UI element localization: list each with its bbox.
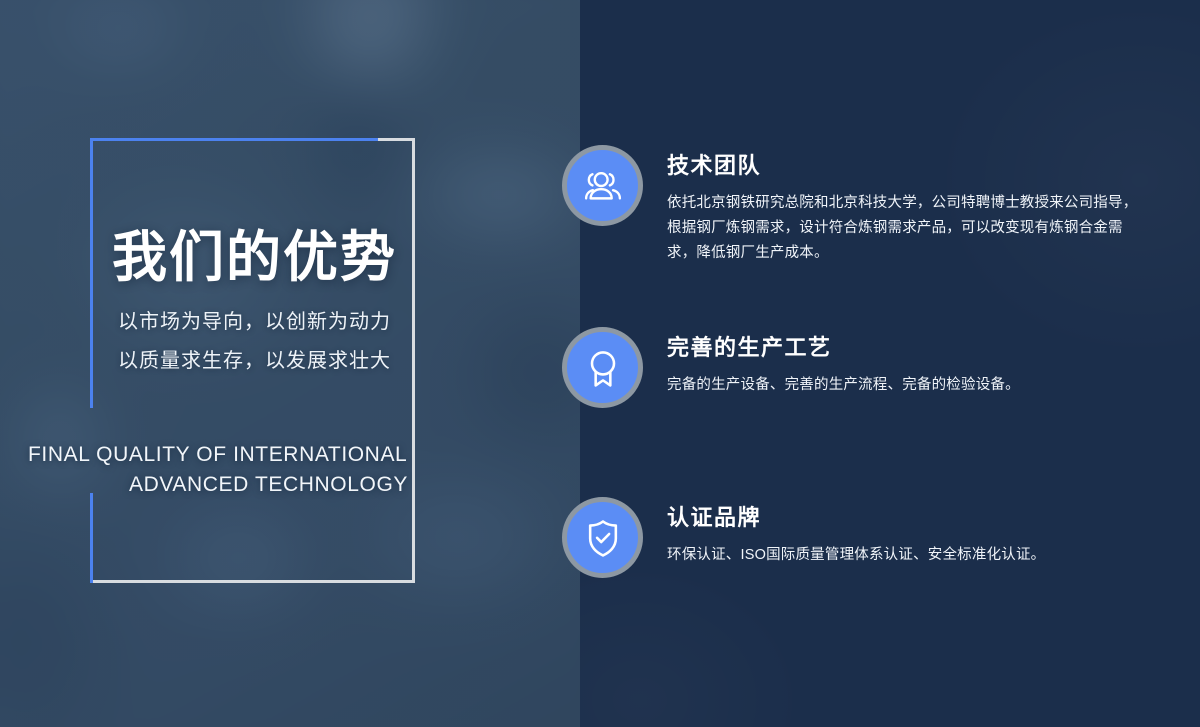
page-title: 我们的优势 (112, 227, 397, 288)
left-content-group: 我们的优势 以市场为导向，以创新为动力 以质量求生存，以发展求壮大 FINAL … (0, 0, 580, 727)
shield-check-icon (562, 497, 643, 578)
feature-text-block: 完善的生产工艺 完备的生产设备、完善的生产流程、完备的检验设备。 (667, 327, 1147, 408)
feature-item-production-process: 完善的生产工艺 完备的生产设备、完善的生产流程、完备的检验设备。 (580, 327, 1200, 408)
tagline-group: 以市场为导向，以创新为动力 以质量求生存，以发展求壮大 (118, 303, 391, 381)
feature-text-block: 技术团队 依托北京钢铁研究总院和北京科技大学，公司特聘博士教授来公司指导，根据钢… (667, 145, 1147, 266)
feature-title: 完善的生产工艺 (667, 330, 1147, 362)
tagline-line-2: 以质量求生存，以发展求壮大 (118, 342, 391, 381)
feature-description: 环保认证、ISO国际质量管理体系认证、安全标准化认证。 (667, 543, 1147, 568)
tagline-line-1: 以市场为导向，以创新为动力 (118, 303, 391, 342)
feature-item-certified-brand: 认证品牌 环保认证、ISO国际质量管理体系认证、安全标准化认证。 (580, 497, 1200, 578)
slide-canvas: 我们的优势 以市场为导向，以创新为动力 以质量求生存，以发展求壮大 FINAL … (0, 0, 1200, 727)
english-subtitle-group: FINAL QUALITY OF INTERNATIONAL ADVANCED … (28, 440, 408, 500)
feature-item-technical-team: 技术团队 依托北京钢铁研究总院和北京科技大学，公司特聘博士教授来公司指导，根据钢… (580, 145, 1200, 266)
feature-list: 技术团队 依托北京钢铁研究总院和北京科技大学，公司特聘博士教授来公司指导，根据钢… (580, 0, 1200, 727)
feature-description: 完备的生产设备、完善的生产流程、完备的检验设备。 (667, 373, 1147, 398)
english-subtitle-line-2: ADVANCED TECHNOLOGY (28, 470, 408, 500)
feature-title: 认证品牌 (667, 500, 1147, 532)
english-subtitle-line-1: FINAL QUALITY OF INTERNATIONAL (28, 440, 408, 470)
feature-text-block: 认证品牌 环保认证、ISO国际质量管理体系认证、安全标准化认证。 (667, 497, 1147, 578)
feature-title: 技术团队 (667, 148, 1147, 180)
medal-icon (562, 327, 643, 408)
feature-description: 依托北京钢铁研究总院和北京科技大学，公司特聘博士教授来公司指导，根据钢厂炼钢需求… (667, 191, 1147, 266)
users-icon (562, 145, 643, 226)
